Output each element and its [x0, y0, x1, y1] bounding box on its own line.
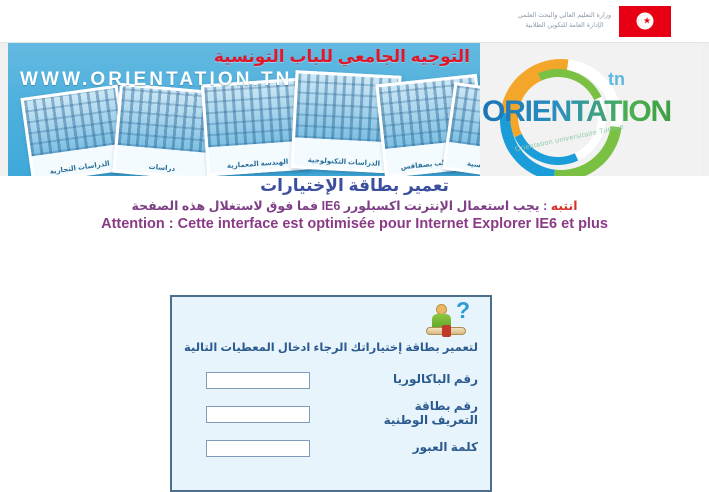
banner-url-text: WWW.ORIENTATION.TN — [20, 69, 293, 91]
site-logo: Orientation universitaire Tunisie ORIENT… — [480, 43, 702, 176]
banner-card-photo — [449, 85, 480, 152]
national-id-label: رقم بطاقة التعريف الوطنية — [372, 400, 482, 428]
diploma-scroll-icon — [426, 327, 466, 335]
bac-number-field-wrap — [206, 371, 310, 390]
notice-arabic-body: : يجب استعمال الإنترنت اكسبلورر IE6 فما … — [132, 199, 551, 213]
login-form: رقم الباكالوريا رقم بطاقة التعريف الوطني… — [172, 363, 490, 465]
bac-number-input[interactable] — [206, 372, 310, 389]
banner-strip: التوجيه الجامعي للباب التونسية WWW.ORIEN… — [0, 42, 709, 176]
form-row-password: كلمة العبور — [172, 431, 490, 465]
tunisia-flag-icon: ★ — [619, 6, 671, 37]
login-panel: ? لتعمير بطاقة إختياراتك الرجاء ادخال ال… — [170, 295, 492, 492]
password-field-wrap — [206, 439, 310, 458]
form-row-bac-number: رقم الباكالوريا — [172, 363, 490, 397]
question-mark-icon: ? — [456, 299, 470, 322]
student-question-icon: ? — [426, 302, 468, 338]
national-id-field-wrap — [206, 405, 310, 424]
banner-title: التوجيه الجامعي للباب التونسية — [214, 47, 470, 67]
banner-card-caption: دراسات — [116, 160, 208, 176]
logo-tld: tn — [608, 69, 625, 90]
ministry-line-1: وزارة التعليم العالي والبحث العلمي — [518, 11, 611, 21]
banner-card-photo — [24, 88, 123, 156]
page-root: وزارة التعليم العالي والبحث العلمي الإدا… — [0, 0, 709, 492]
notice-french: Attention : Cette interface est optimisé… — [0, 216, 709, 232]
password-input[interactable] — [206, 440, 310, 457]
ministry-line-2: الإدارة العامة للتكوين الطلابية — [518, 21, 611, 31]
bac-number-label: رقم الباكالوريا — [372, 373, 482, 387]
ministry-name: وزارة التعليم العالي والبحث العلمي الإدا… — [518, 11, 611, 31]
notice-arabic-keyword: انتبه — [551, 199, 578, 213]
banner-card-caption: الهندسية — [446, 157, 480, 175]
ministry-header-inner: وزارة التعليم العالي والبحث العلمي الإدا… — [480, 4, 709, 38]
notice-arabic: انتبه : يجب استعمال الإنترنت اكسبلورر IE… — [0, 198, 709, 213]
flag-star: ★ — [643, 17, 651, 26]
national-id-input[interactable] — [206, 406, 310, 423]
login-instruction: لتعمير بطاقة إختياراتك الرجاء ادخال المع… — [172, 340, 490, 354]
logo-wordmark: ORIENTATION — [482, 95, 671, 129]
banner-card-caption: الدراسات التكنولوجية — [294, 155, 394, 168]
banner-photo-collage: التوجيه الجامعي للباب التونسية WWW.ORIEN… — [8, 43, 480, 176]
ministry-header-bar: وزارة التعليم العالي والبحث العلمي الإدا… — [0, 0, 709, 40]
password-label: كلمة العبور — [372, 441, 482, 455]
banner-card-photo — [118, 86, 215, 153]
page-title: تعمير بطاقة الإختيارات — [0, 176, 709, 196]
form-row-national-id: رقم بطاقة التعريف الوطنية — [172, 397, 490, 431]
